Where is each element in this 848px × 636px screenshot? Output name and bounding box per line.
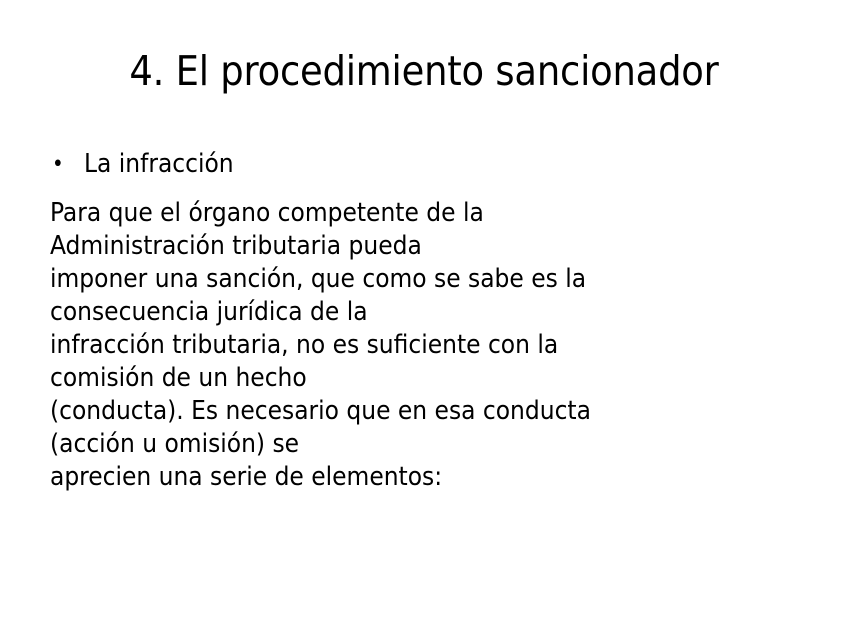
body-line: infracción tributaria, no es suficiente … (50, 329, 790, 362)
body-line: aprecien una serie de elementos: (50, 461, 790, 494)
body-line: imponer una sanción, que como se sabe es… (50, 263, 790, 296)
body-line: (acción u omisión) se (50, 428, 790, 461)
list-item: • La infracción (50, 148, 790, 181)
bullet-item-label: La infracción (84, 148, 790, 181)
page-title: 4. El procedimiento sancionador (0, 46, 848, 96)
body-line: consecuencia jurídica de la (50, 296, 790, 329)
body-line: Administración tributaria pueda (50, 230, 790, 263)
bullet-marker-icon: • (50, 148, 84, 181)
body-line: Para que el órgano competente de la (50, 197, 790, 230)
slide-canvas: 4. El procedimiento sancionador • La inf… (0, 0, 848, 636)
slide-body: • La infracción Para que el órgano compe… (50, 148, 790, 494)
body-line: (conducta). Es necesario que en esa cond… (50, 395, 790, 428)
body-paragraph: Para que el órgano competente de la Admi… (50, 197, 790, 494)
body-line: comisión de un hecho (50, 362, 790, 395)
